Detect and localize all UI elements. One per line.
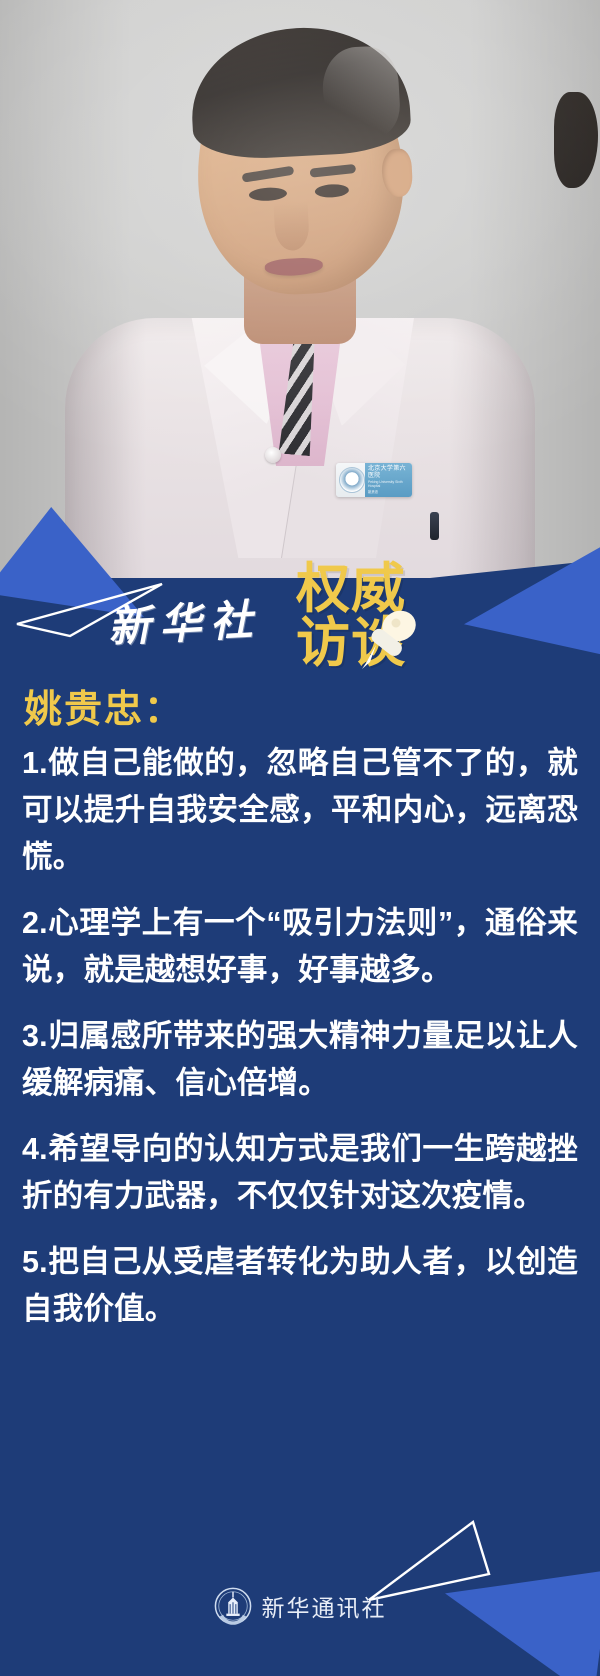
brand-header-row: 新华社 权威 访谈: [0, 575, 600, 680]
interview-point: 1.做自己能做的，忽略自己管不了的，就可以提升自我安全感，平和内心，远离恐慌。: [22, 740, 578, 881]
photo-vignette: [0, 0, 600, 580]
xinhua-agency-script-logo: 新华社: [107, 584, 295, 656]
interview-point: 2.心理学上有一个“吸引力法则”，通俗来说，就是越想好事，好事越多。: [22, 900, 578, 994]
interview-points-list: 1.做自己能做的，忽略自己管不了的，就可以提升自我安全感，平和内心，远离恐慌。 …: [22, 740, 578, 1352]
footer-credit: 新华通讯社: [0, 1578, 600, 1634]
footer-agency-name: 新华通讯社: [262, 1589, 387, 1623]
speaker-name-label: 姚贵忠：: [24, 678, 184, 733]
program-title-block: 权威 访谈: [296, 563, 466, 681]
program-title-line-2: 访谈: [296, 617, 466, 669]
interview-point: 5.把自己从受虐者转化为助人者，以创造自我价值。: [22, 1239, 578, 1333]
doctor-portrait-photo: 北京大学第六医院 Peking University Sixth Hospita…: [0, 0, 600, 580]
program-title-line-1: 权威: [296, 563, 466, 615]
interview-point: 3.归属感所带来的强大精神力量足以让人缓解病痛、信心倍增。: [22, 1013, 578, 1107]
xinhua-emblem-icon: [214, 1587, 252, 1625]
poster-root: 北京大学第六医院 Peking University Sixth Hospita…: [0, 0, 600, 1676]
interview-point: 4.希望导向的认知方式是我们一生跨越挫折的有力武器，不仅仅针对这次疫情。: [22, 1126, 578, 1220]
